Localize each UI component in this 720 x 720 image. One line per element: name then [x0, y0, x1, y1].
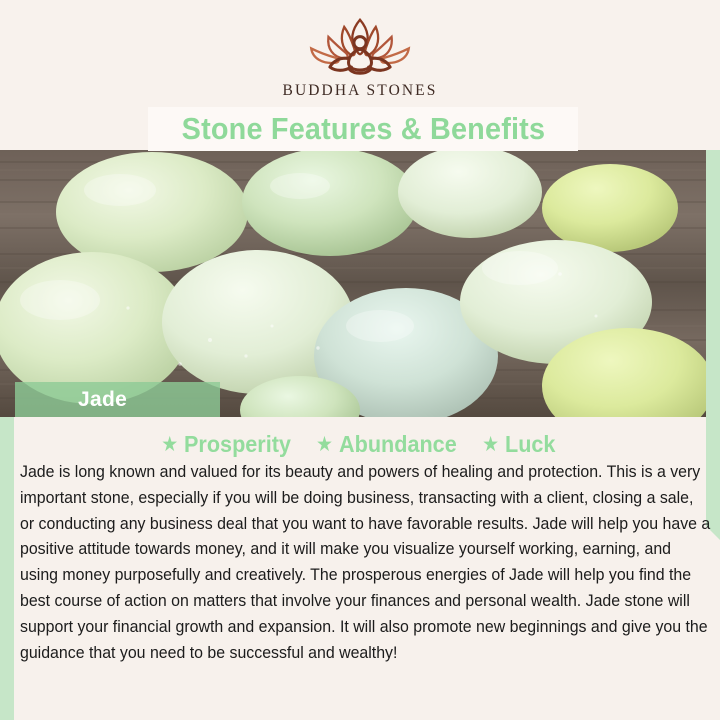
benefit-label: Prosperity	[184, 431, 291, 458]
left-accent-strip	[0, 417, 14, 720]
jade-stones-photo	[0, 150, 706, 417]
benefits-row: ★ Prosperity ★ Abundance ★ Luck	[14, 428, 706, 460]
description-block: Jade is long known and valued for its be…	[14, 460, 706, 705]
star-icon: ★	[482, 434, 499, 455]
description-text: Jade is long known and valued for its be…	[20, 460, 711, 666]
brand-name: BUDDHA STONES	[283, 82, 438, 100]
stone-name-label: Jade	[78, 388, 127, 412]
stone-name-bar: Jade	[15, 382, 220, 417]
benefit-item-prosperity: ★ Prosperity	[161, 431, 298, 458]
star-icon: ★	[161, 434, 178, 455]
star-icon: ★	[316, 434, 333, 455]
title-banner: Stone Features & Benefits	[148, 107, 578, 151]
photo-right-accent	[706, 150, 720, 417]
benefit-item-luck: ★ Luck	[482, 431, 559, 458]
benefit-label: Luck	[505, 431, 555, 458]
infographic-page: BUDDHA STONES Stone Features & Benefits	[0, 0, 720, 720]
benefit-item-abundance: ★ Abundance	[316, 431, 464, 458]
benefit-label: Abundance	[339, 431, 457, 458]
lotus-meditation-icon	[285, 14, 435, 80]
page-title: Stone Features & Benefits	[181, 111, 545, 147]
